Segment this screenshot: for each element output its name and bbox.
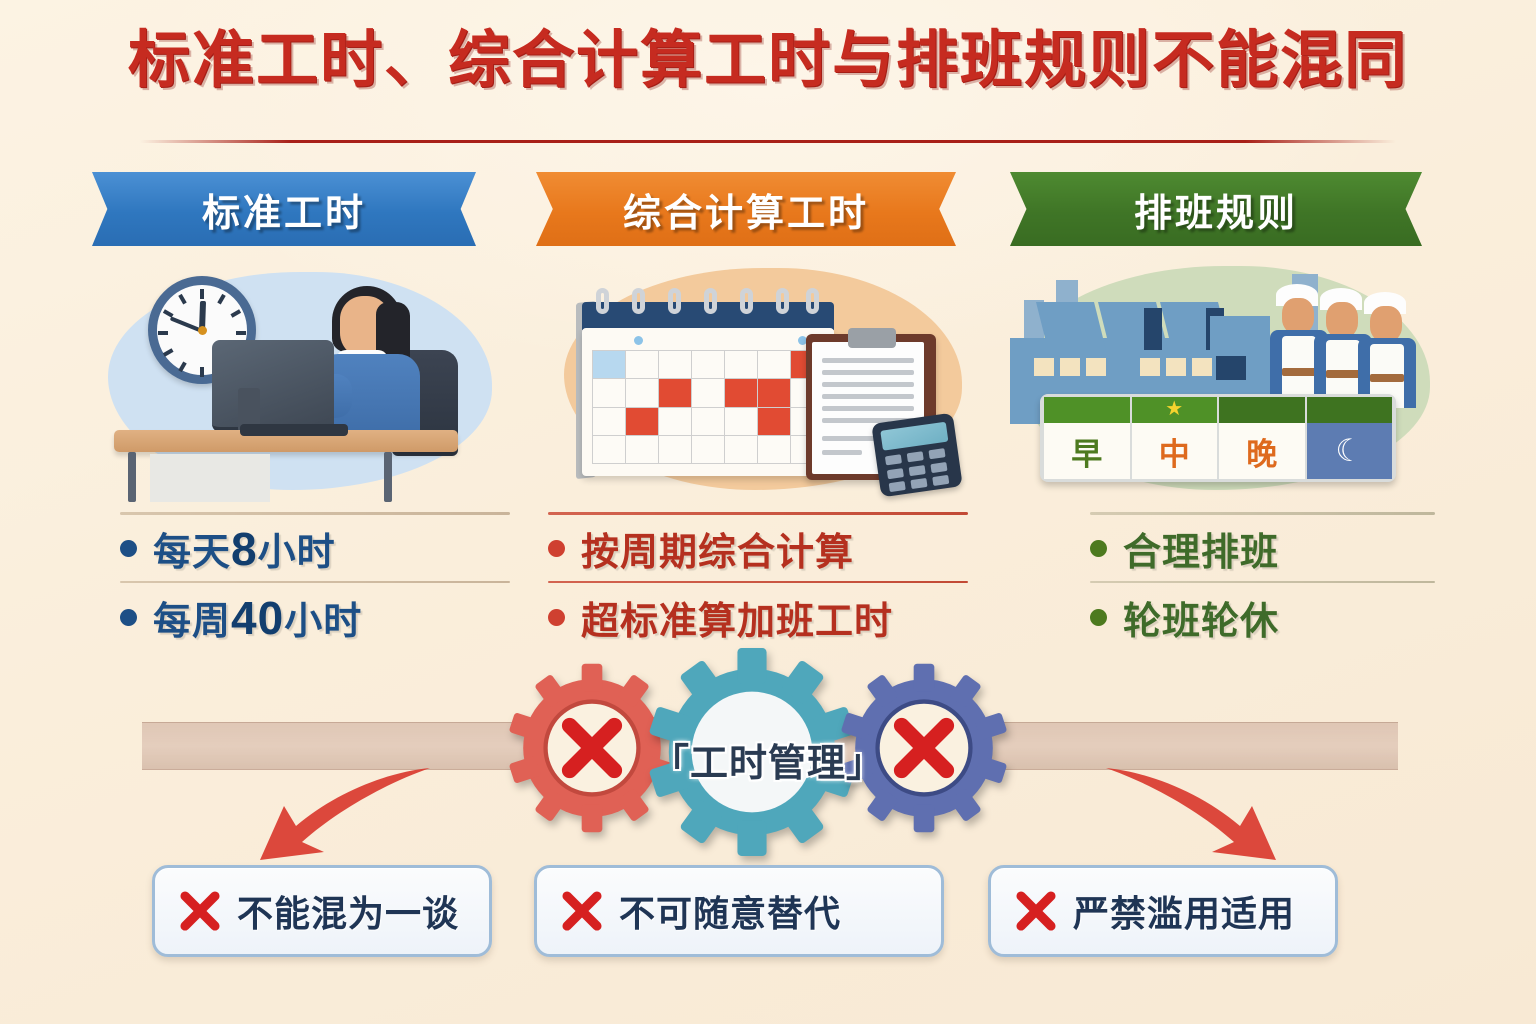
shift-cell-night[interactable]: 晚	[1219, 397, 1305, 479]
computer-monitor	[212, 340, 334, 432]
gear-center-label: 「工时管理」	[498, 732, 1038, 787]
conclusion-label-2: 不可随意替代	[619, 885, 841, 937]
banner-shift-rules: 排班规则	[1010, 172, 1422, 246]
x-mark-icon	[177, 888, 223, 934]
bullet-divider	[1090, 581, 1435, 584]
list-item: 合理排班	[1090, 517, 1435, 581]
list-item: 按周期综合计算	[548, 517, 968, 581]
gear-cluster: 「工时管理」	[498, 648, 1038, 848]
conclusion-box-3[interactable]: 严禁滥用适用	[988, 865, 1338, 957]
illustration-factory-shift: 早 ★ 中 晚 ☾	[1000, 258, 1440, 506]
bullet-divider	[1090, 512, 1435, 515]
list-item: 轮班轮休	[1090, 585, 1435, 649]
x-mark-icon	[1013, 888, 1059, 934]
bullet-divider	[548, 581, 968, 584]
bullet-dot	[548, 609, 565, 626]
bullet-label-2: 超标准算加班工时	[581, 590, 893, 645]
bullet-divider	[548, 512, 968, 515]
desk-panel	[150, 454, 270, 502]
bullet-group-comprehensive-hours: 按周期综合计算 超标准算加班工时	[548, 512, 968, 649]
bullet-divider	[120, 581, 510, 584]
title-container: 标准工时、综合计算工时与排班规则不能混同	[0, 28, 1536, 93]
page-title: 标准工时、综合计算工时与排班规则不能混同	[0, 28, 1536, 93]
calendar-ring	[632, 288, 645, 314]
shift-schedule-board[interactable]: 早 ★ 中 晚 ☾	[1040, 394, 1396, 482]
infographic-poster: 标准工时、综合计算工时与排班规则不能混同 标准工时 综合计算工时 排班规则	[0, 0, 1536, 1024]
calendar-ring	[740, 288, 753, 314]
shift-cell-rest[interactable]: ☾	[1307, 397, 1393, 479]
illustration-calendar-calculator	[548, 258, 978, 506]
calendar-grid	[592, 350, 824, 464]
calculator	[871, 413, 963, 498]
conclusion-label-1: 不能混为一谈	[237, 885, 459, 937]
moon-icon: ☾	[1307, 423, 1393, 479]
banner-label-2: 综合计算工时	[623, 182, 869, 237]
x-mark-icon	[559, 888, 605, 934]
calculator-screen	[880, 422, 948, 451]
calendar-ring	[776, 288, 789, 314]
bullet-dot	[1090, 540, 1107, 557]
banner-label-1: 标准工时	[202, 182, 366, 237]
banner-comprehensive-hours: 综合计算工时	[536, 172, 956, 246]
bullet-label-2: 轮班轮休	[1123, 590, 1279, 645]
bullet-label-1: 每天8小时	[153, 521, 336, 576]
list-item: 每天8小时	[120, 517, 510, 581]
conclusion-box-1[interactable]: 不能混为一谈	[152, 865, 492, 957]
title-divider	[140, 140, 1396, 143]
calendar-ring	[806, 288, 819, 314]
keyboard	[240, 424, 348, 436]
bullet-dot	[548, 540, 565, 557]
shift-label-night: 晚	[1219, 423, 1305, 479]
bullet-label-1: 按周期综合计算	[581, 521, 854, 576]
clipboard-clasp	[848, 328, 896, 348]
conclusion-box-2[interactable]: 不可随意替代	[534, 865, 944, 957]
banner-label-3: 排班规则	[1134, 182, 1298, 237]
bullet-group-shift-rules: 合理排班 轮班轮休	[1090, 512, 1435, 649]
banner-standard-hours: 标准工时	[92, 172, 476, 246]
calendar-ring	[668, 288, 681, 314]
shift-cell-midday[interactable]: ★ 中	[1132, 397, 1218, 479]
bullet-group-standard-hours: 每天8小时 每周40小时	[120, 512, 510, 649]
bullet-dot	[120, 609, 137, 626]
conclusion-label-3: 严禁滥用适用	[1073, 885, 1295, 937]
desk-leg-right	[384, 452, 392, 502]
bullet-label-1: 合理排班	[1123, 521, 1279, 576]
bullet-label-2: 每周40小时	[153, 590, 362, 645]
calendar-marker-dot	[634, 336, 643, 345]
desk-leg-left	[128, 452, 136, 502]
list-item: 超标准算加班工时	[548, 585, 968, 649]
bullet-dot	[120, 540, 137, 557]
shift-cell-morning[interactable]: 早	[1044, 397, 1130, 479]
bullet-divider	[120, 512, 510, 515]
shift-label-midday: 中	[1132, 423, 1218, 479]
calendar-ring	[596, 288, 609, 314]
arrow-right-curved	[1096, 760, 1296, 870]
arrow-left-curved	[240, 760, 440, 870]
star-icon: ★	[1165, 398, 1183, 420]
shift-label-morning: 早	[1044, 423, 1130, 479]
list-item: 每周40小时	[120, 585, 510, 649]
illustration-office-worker	[100, 258, 500, 506]
calendar-ring	[704, 288, 717, 314]
bullet-dot	[1090, 609, 1107, 626]
